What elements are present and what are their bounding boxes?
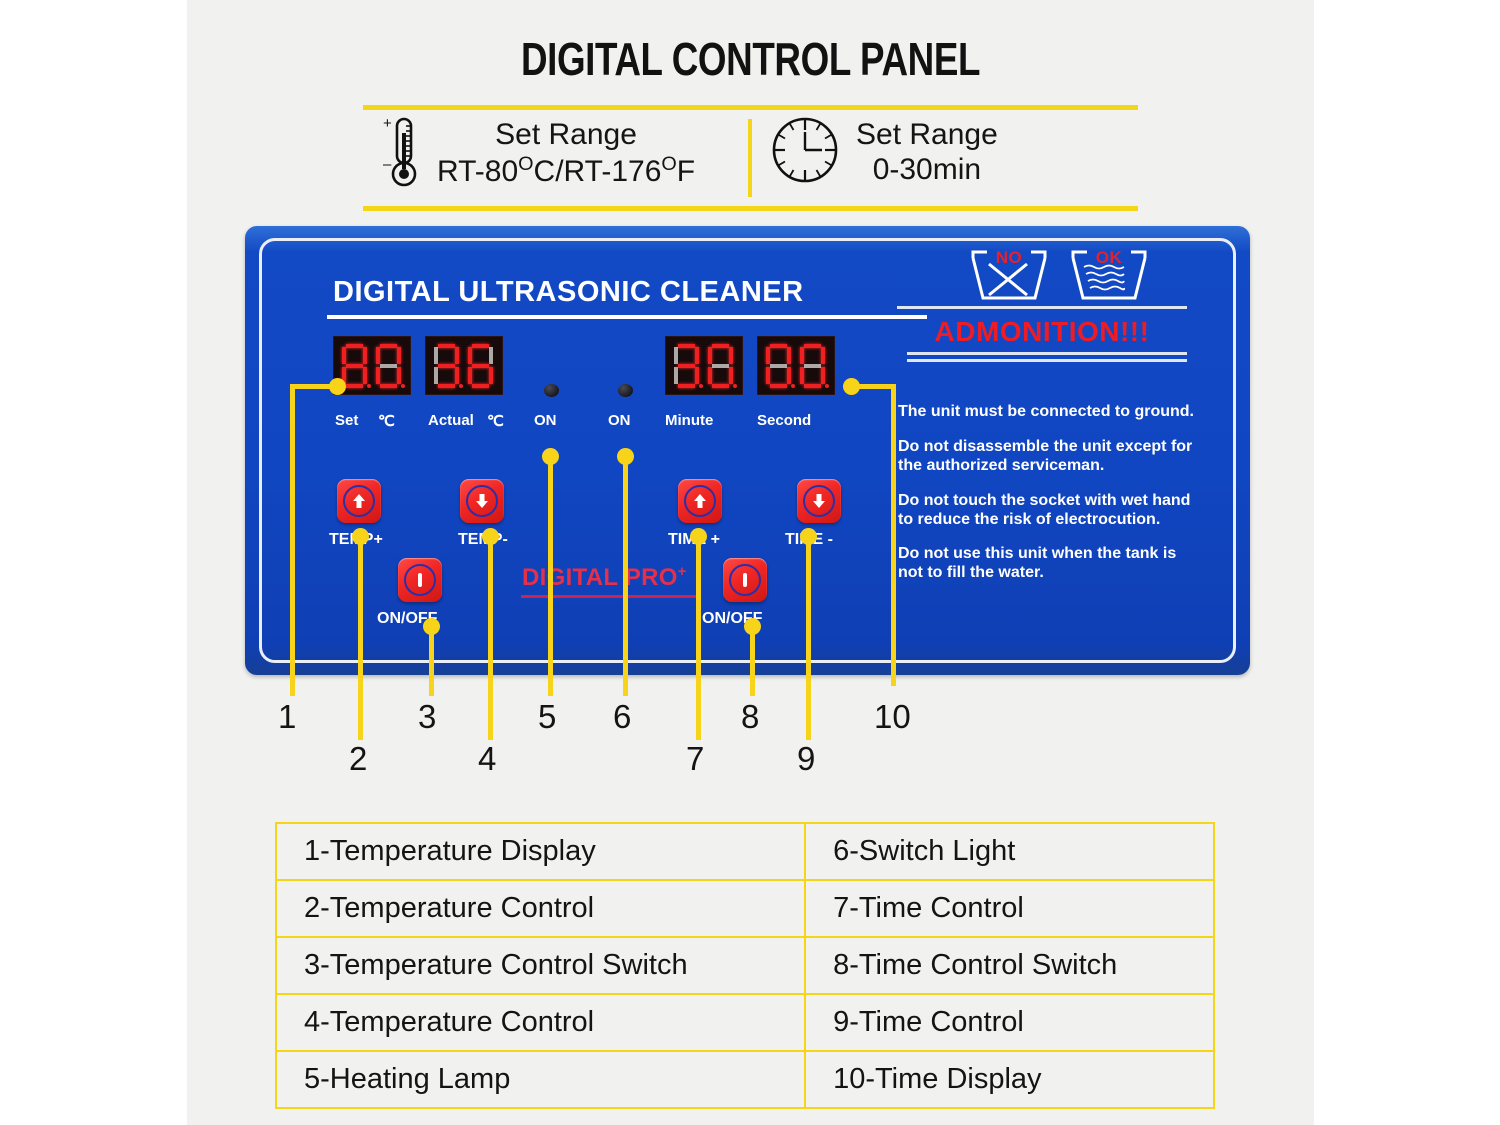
heating-lamp-label: ON	[534, 412, 557, 429]
legend-cell-4: 4-Temperature Control	[276, 994, 805, 1051]
legend-cell-7: 7-Time Control	[805, 880, 1214, 937]
time-increase-button[interactable]	[678, 479, 722, 523]
temp-increase-label: TEMP+	[329, 531, 383, 549]
admonition-line: Do not use this unit when the tank is no…	[898, 545, 1198, 583]
temperature-power-button[interactable]	[398, 558, 442, 602]
admonition-rule-top	[897, 306, 1187, 309]
svg-text:–: –	[383, 156, 392, 173]
legend-cell-3: 3-Temperature Control Switch	[276, 937, 805, 994]
actual-unit-label: ℃	[487, 412, 504, 430]
temp-decrease-label: TEMP-	[458, 531, 508, 549]
admonition-line: Do not disassemble the unit except for t…	[898, 438, 1198, 476]
admonition-rule-mid-2	[907, 359, 1187, 362]
admonition-title: ADMONITION!!!	[897, 316, 1187, 348]
spec-divider	[748, 119, 752, 197]
page-root: DIGITAL CONTROL PANEL + –	[0, 0, 1500, 1125]
seven-segment-digit	[433, 344, 461, 388]
digital-pro-logo-rule	[521, 595, 698, 598]
arrow-up-icon	[343, 485, 375, 517]
spec-strip: + –	[363, 105, 1138, 211]
spec-timer-text: Set Range 0-30min	[856, 118, 998, 186]
second-label: Second	[757, 412, 811, 429]
seven-segment-digit	[467, 344, 495, 388]
temp-increase-button[interactable]	[337, 479, 381, 523]
thermometer-icon: + –	[377, 113, 423, 194]
power-icon	[404, 564, 436, 596]
spec-timer: Set Range 0-30min	[768, 113, 998, 192]
legend-cell-5: 5-Heating Lamp	[276, 1051, 805, 1108]
legend-cell-9: 9-Time Control	[805, 994, 1214, 1051]
digital-pro-logo: DIGITAL PRO+	[522, 564, 686, 592]
panel-title: DIGITAL ULTRASONIC CLEANER	[333, 276, 804, 309]
set-unit-label: ℃	[378, 412, 395, 430]
legend-table: 1-Temperature Display 6-Switch Light 2-T…	[275, 822, 1215, 1109]
time-decrease-button[interactable]	[797, 479, 841, 523]
table-row: 5-Heating Lamp 10-Time Display	[276, 1051, 1214, 1108]
switch-light-lamp	[618, 384, 633, 397]
time-power-label: ON/OFF	[702, 610, 762, 628]
basket-ok-icon: OK	[1067, 248, 1151, 309]
time-increase-label: TIME +	[668, 531, 720, 549]
set-temperature-display	[333, 336, 411, 395]
seven-segment-digit	[375, 344, 403, 388]
time-power-button[interactable]	[723, 558, 767, 602]
set-label: Set	[335, 412, 358, 429]
spec-timer-line2: 0-30min	[856, 153, 998, 187]
time-decrease-label: TIME -	[785, 531, 833, 549]
seven-segment-digit	[765, 344, 793, 388]
spec-temperature: + –	[377, 113, 695, 194]
admonition-body: The unit must be connected to ground. Do…	[898, 403, 1198, 583]
spec-temperature-line1: Set Range	[437, 118, 695, 152]
basket-no-label: NO	[996, 248, 1023, 268]
legend-cell-1: 1-Temperature Display	[276, 823, 805, 880]
spec-temperature-text: Set Range RT-80OC/RT-176OF	[437, 118, 695, 188]
arrow-down-icon	[466, 485, 498, 517]
minute-label: Minute	[665, 412, 713, 429]
spec-temperature-line2: RT-80OC/RT-176OF	[437, 153, 695, 189]
legend-cell-2: 2-Temperature Control	[276, 880, 805, 937]
heating-lamp	[544, 384, 559, 397]
basket-no-icon: NO	[967, 248, 1051, 309]
table-row: 3-Temperature Control Switch 8-Time Cont…	[276, 937, 1214, 994]
switch-light-label: ON	[608, 412, 631, 429]
spec-timer-line1: Set Range	[856, 118, 998, 152]
panel-title-rule	[327, 315, 927, 319]
arrow-down-icon	[803, 485, 835, 517]
actual-label: Actual	[428, 412, 474, 429]
minute-display	[665, 336, 743, 395]
second-display	[757, 336, 835, 395]
spec-rule-bottom	[363, 206, 1138, 211]
temperature-power-label: ON/OFF	[377, 610, 437, 628]
seven-segment-digit	[799, 344, 827, 388]
seven-segment-digit	[341, 344, 369, 388]
legend-cell-8: 8-Time Control Switch	[805, 937, 1214, 994]
actual-temperature-display	[425, 336, 503, 395]
table-row: 4-Temperature Control 9-Time Control	[276, 994, 1214, 1051]
temp-decrease-button[interactable]	[460, 479, 504, 523]
arrow-up-icon	[684, 485, 716, 517]
table-row: 2-Temperature Control 7-Time Control	[276, 880, 1214, 937]
admonition-rule-mid-1	[907, 352, 1187, 355]
clock-icon	[768, 113, 842, 192]
page-title: DIGITAL CONTROL PANEL	[300, 32, 1202, 86]
basket-ok-label: OK	[1096, 248, 1123, 268]
admonition-line: Do not touch the socket with wet hand to…	[898, 492, 1198, 530]
table-row: 1-Temperature Display 6-Switch Light	[276, 823, 1214, 880]
spec-rule-top	[363, 105, 1138, 110]
legend-cell-10: 10-Time Display	[805, 1051, 1214, 1108]
admonition-line: The unit must be connected to ground.	[898, 403, 1198, 422]
svg-text:+: +	[383, 115, 392, 132]
seven-segment-digit	[673, 344, 701, 388]
legend-cell-6: 6-Switch Light	[805, 823, 1214, 880]
power-icon	[729, 564, 761, 596]
control-panel: DIGITAL ULTRASONIC CLEANER NO OK	[245, 226, 1250, 675]
seven-segment-digit	[707, 344, 735, 388]
